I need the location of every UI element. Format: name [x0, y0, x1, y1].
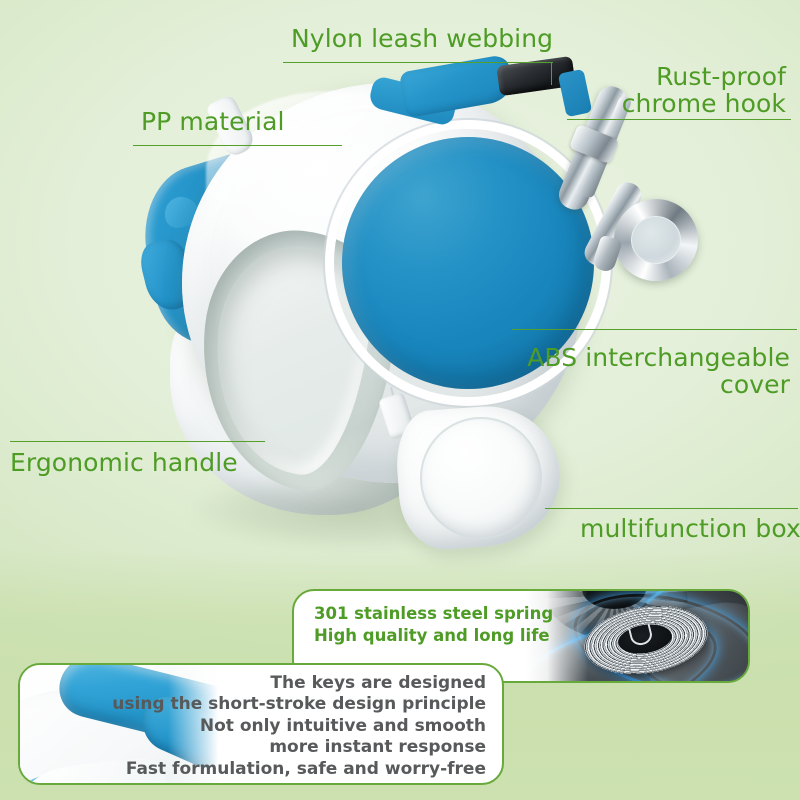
- spring-mechanism-photo: [526, 591, 748, 681]
- callout-label-pp-material: PP material: [141, 109, 285, 136]
- callout-rule-pp-material-2: [244, 145, 342, 146]
- callout-rule-multifunction-box: [545, 508, 798, 509]
- callout-text-line1: ABS interchangeable: [527, 345, 790, 372]
- info-card-key-design: The keys are designed using the short-st…: [18, 663, 504, 785]
- callout-leader-nylon: [551, 62, 552, 85]
- callout-label-rust-proof-chrome-hook: Rust-proof chrome hook: [622, 64, 786, 117]
- callout-rule-ergonomic-handle: [10, 441, 265, 442]
- callout-text: PP material: [141, 109, 285, 136]
- hook-eye-hole: [632, 217, 680, 263]
- callout-text: multifunction box: [580, 516, 800, 543]
- callout-label-abs-interchangeable-cover: ABS interchangeable cover: [527, 345, 790, 398]
- callout-rule-nylon: [283, 62, 553, 63]
- callout-text: Nylon leash webbing: [291, 26, 553, 53]
- callout-label-multifunction-box: multifunction box: [580, 516, 800, 543]
- multifunction-box-lid: [420, 417, 542, 539]
- callout-rule-abs-cover: [512, 329, 797, 330]
- callout-text-line2: cover: [527, 372, 790, 399]
- callout-text-line1: Rust-proof: [622, 64, 786, 91]
- callout-text-line2: chrome hook: [622, 91, 786, 118]
- callout-rule-rust-proof-hook: [567, 119, 791, 120]
- info-card-keys-text: The keys are designed using the short-st…: [112, 673, 486, 780]
- callout-rule-pp-material: [133, 145, 244, 146]
- info-card-spring-text: 301 stainless steel spring High quality …: [314, 603, 553, 647]
- infographic-canvas: Nylon leash webbing Rust-proof chrome ho…: [0, 0, 800, 800]
- callout-label-nylon-leash-webbing: Nylon leash webbing: [291, 26, 553, 53]
- nylon-webbing-strap: [399, 54, 515, 118]
- callout-label-ergonomic-handle: Ergonomic handle: [10, 450, 238, 477]
- callout-text: Ergonomic handle: [10, 450, 238, 477]
